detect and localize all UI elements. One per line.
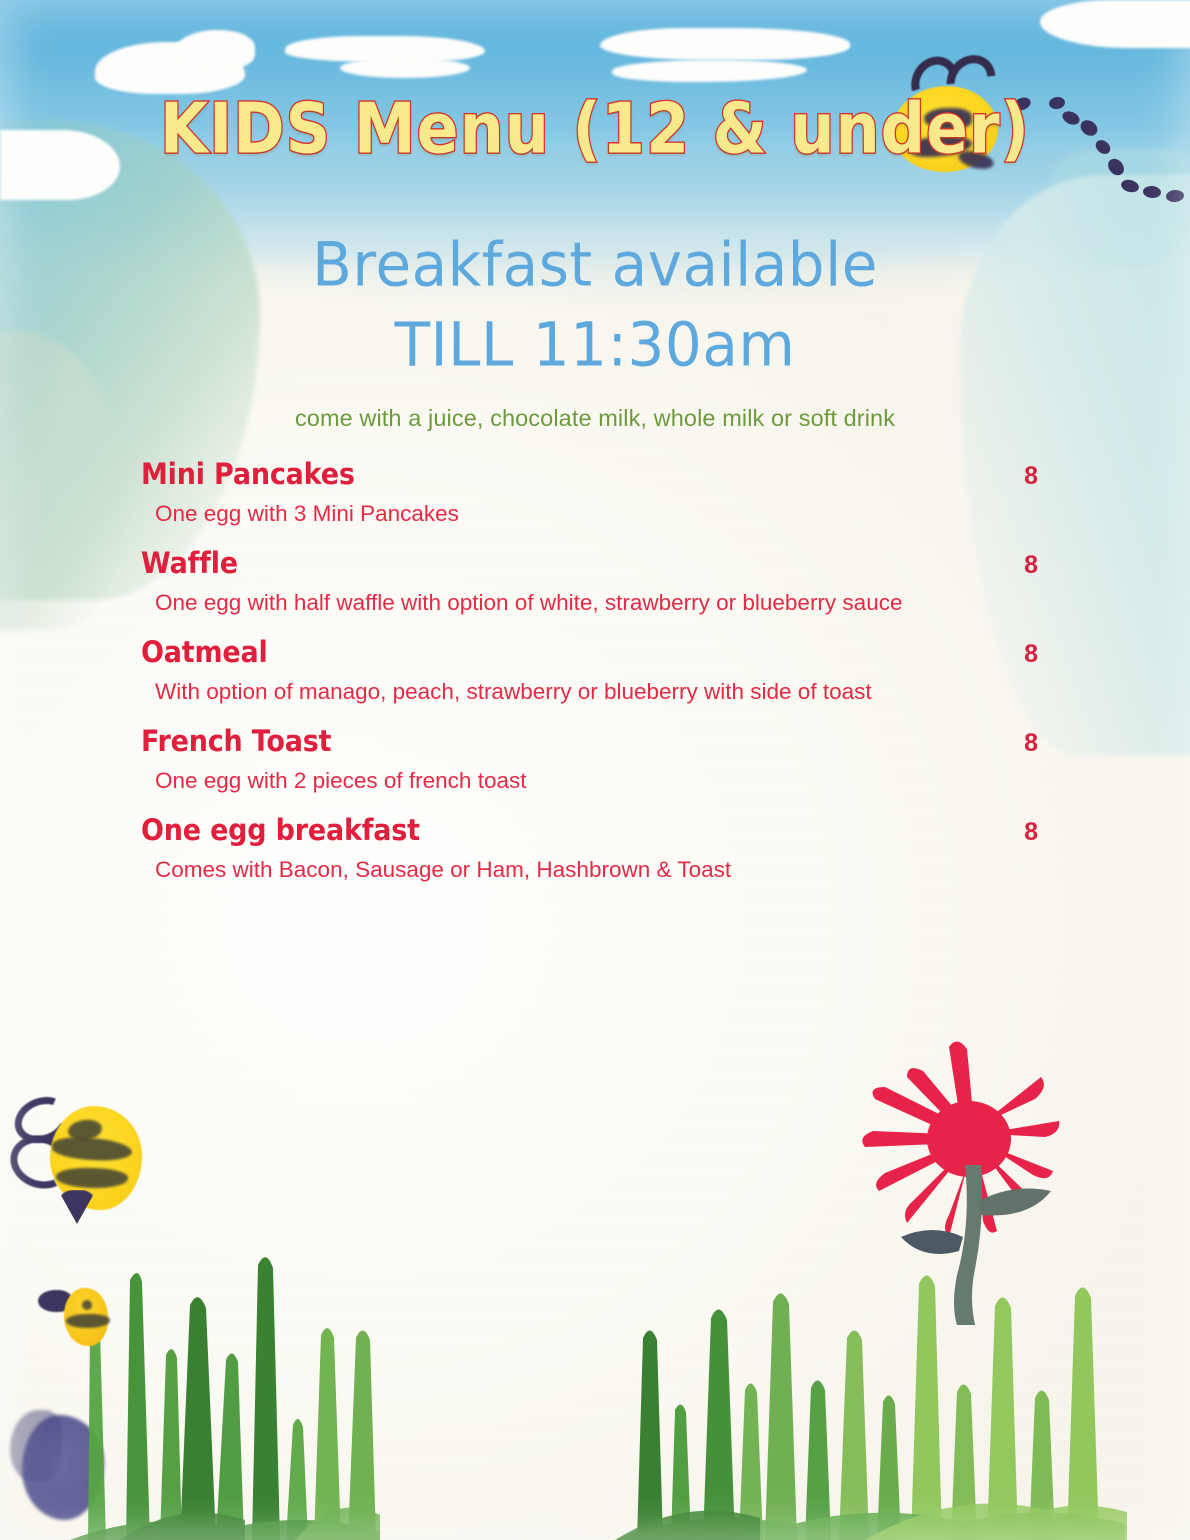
includes-note: come with a juice, chocolate milk, whole… xyxy=(0,405,1190,432)
menu-item: One egg breakfast 8 Comes with Bacon, Sa… xyxy=(141,813,1061,886)
menu-item-name: Waffle xyxy=(141,546,238,580)
menu-item-price: 8 xyxy=(1024,818,1038,847)
menu-item: Waffle 8 One egg with half waffle with o… xyxy=(141,546,1061,619)
menu-item-price: 8 xyxy=(1024,729,1038,758)
menu-item-header: French Toast 8 xyxy=(141,724,1061,758)
menu-item: French Toast 8 One egg with 2 pieces of … xyxy=(141,724,1061,797)
menu-item-price: 8 xyxy=(1024,462,1038,491)
menu-item-price: 8 xyxy=(1024,551,1038,580)
menu-content: Breakfast available TILL 11:30am come wi… xyxy=(0,0,1190,1540)
menu-item-description: One egg with 3 Mini Pancakes xyxy=(155,498,1000,530)
menu-item-description: Comes with Bacon, Sausage or Ham, Hashbr… xyxy=(155,854,1000,886)
menu-item-price: 8 xyxy=(1024,640,1038,669)
menu-item-name: French Toast xyxy=(141,724,331,758)
breakfast-heading-line2: TILL 11:30am xyxy=(0,305,1190,385)
menu-item-description: One egg with half waffle with option of … xyxy=(155,587,1000,619)
menu-item-header: Mini Pancakes 8 xyxy=(141,457,1061,491)
menu-item-list: Mini Pancakes 8 One egg with 3 Mini Panc… xyxy=(141,457,1061,902)
menu-item-name: One egg breakfast xyxy=(141,813,420,847)
menu-item-header: Oatmeal 8 xyxy=(141,635,1061,669)
menu-item: Oatmeal 8 With option of manago, peach, … xyxy=(141,635,1061,708)
menu-item-header: One egg breakfast 8 xyxy=(141,813,1061,847)
breakfast-heading: Breakfast available TILL 11:30am xyxy=(0,225,1190,384)
breakfast-heading-line1: Breakfast available xyxy=(312,229,878,300)
menu-item-header: Waffle 8 xyxy=(141,546,1061,580)
menu-item-name: Oatmeal xyxy=(141,635,268,669)
menu-item: Mini Pancakes 8 One egg with 3 Mini Panc… xyxy=(141,457,1061,530)
menu-item-description: One egg with 2 pieces of french toast xyxy=(155,765,1000,797)
menu-item-description: With option of manago, peach, strawberry… xyxy=(155,676,1000,708)
menu-item-name: Mini Pancakes xyxy=(141,457,355,491)
kids-menu-page: KIDS Menu (12 & under) Breakfast availab… xyxy=(0,0,1190,1540)
